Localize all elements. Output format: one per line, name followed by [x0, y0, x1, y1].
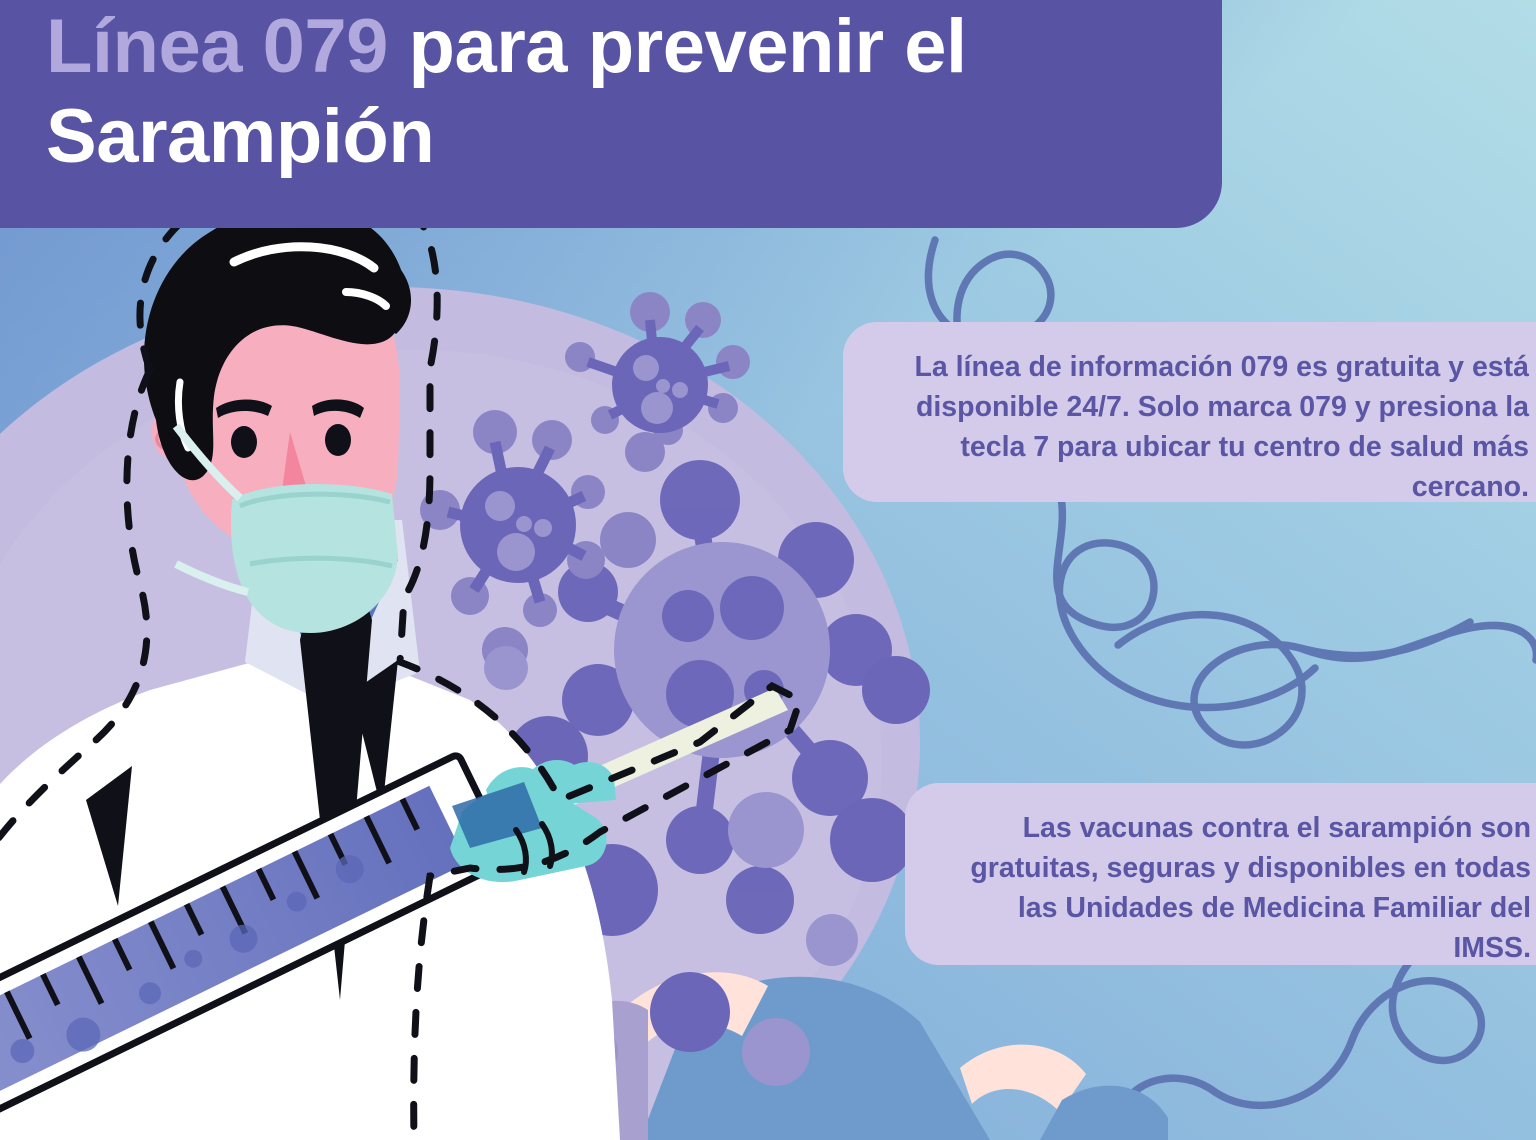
callout-info-line-079: La línea de información 079 es gratuita … — [843, 322, 1536, 502]
callout-1-text: La línea de información 079 es gratuita … — [887, 348, 1529, 508]
callout-2-text: Las vacunas contra el sarampión son grat… — [945, 809, 1531, 969]
callout-vaccines-imss: Las vacunas contra el sarampión son grat… — [905, 783, 1536, 965]
page-title: Línea 079 para prevenir el Sarampión — [46, 2, 1166, 181]
poster-canvas: Línea 079 para prevenir el Sarampión La … — [0, 0, 1536, 1140]
header-banner: Línea 079 para prevenir el Sarampión — [0, 0, 1222, 228]
eye-right — [325, 424, 351, 456]
eye-left — [231, 426, 257, 458]
page-title-highlight: Línea 079 — [46, 4, 388, 89]
